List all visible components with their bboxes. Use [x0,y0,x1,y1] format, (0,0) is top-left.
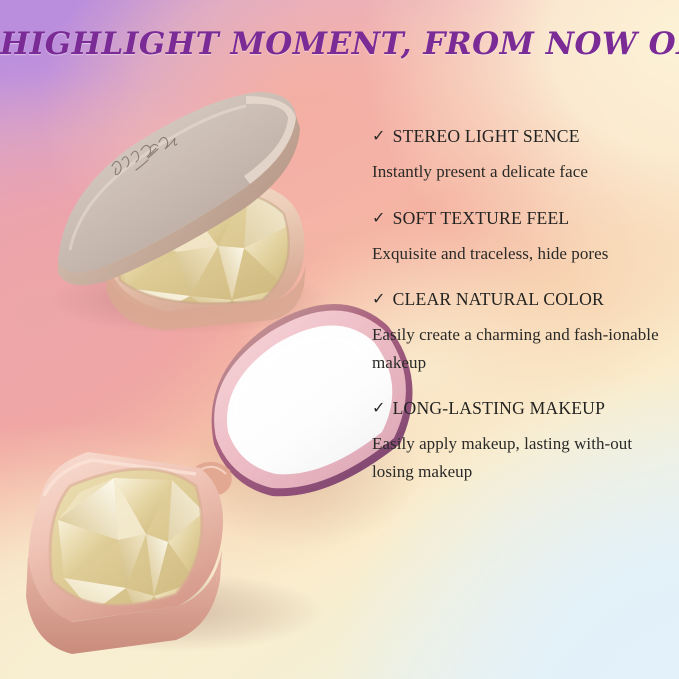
check-icon: ✓ [372,401,386,417]
check-icon: ✓ [372,211,386,227]
feature-title: SOFT TEXTURE FEEL [393,208,570,229]
feature-heading: ✓ CLEAR NATURAL COLOR [372,289,672,310]
feature-description: Easily apply makeup, lasting with-out lo… [372,430,672,485]
feature-title: STEREO LIGHT SENCE [393,126,580,147]
feature-item-stereo-light-sence: ✓ STEREO LIGHT SENCE Instantly present a… [372,126,672,186]
check-icon: ✓ [372,129,386,145]
feature-heading: ✓ SOFT TEXTURE FEEL [372,208,672,229]
feature-title: LONG-LASTING MAKEUP [393,398,605,419]
feature-description: Exquisite and traceless, hide pores [372,240,672,268]
check-icon: ✓ [372,292,386,308]
feature-heading: ✓ STEREO LIGHT SENCE [372,126,672,147]
feature-item-soft-texture-feel: ✓ SOFT TEXTURE FEEL Exquisite and tracel… [372,208,672,268]
feature-item-clear-natural-color: ✓ CLEAR NATURAL COLOR Easily create a ch… [372,289,672,376]
feature-heading: ✓ LONG-LASTING MAKEUP [372,398,672,419]
feature-description: Instantly present a delicate face [372,158,672,186]
feature-list: ✓ STEREO LIGHT SENCE Instantly present a… [372,126,672,485]
feature-description: Easily create a charming and fash-ionabl… [372,321,672,376]
page-title: HIGHLIGHT MOMENT, FROM NOW ON [0,26,679,62]
feature-item-long-lasting-makeup: ✓ LONG-LASTING MAKEUP Easily apply makeu… [372,398,672,485]
product-poster: HIGHLIGHT MOMENT, FROM NOW ON ✓ STEREO L… [0,0,679,679]
feature-title: CLEAR NATURAL COLOR [393,289,604,310]
